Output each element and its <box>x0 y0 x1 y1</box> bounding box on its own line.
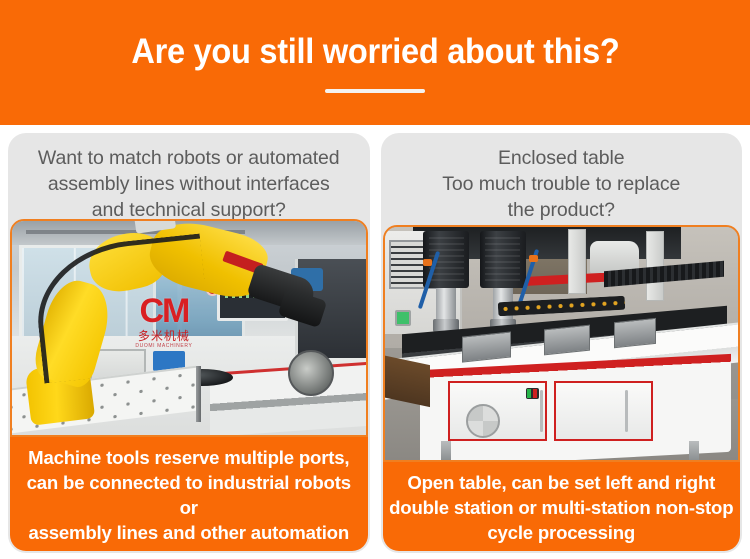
cnc-drilling-machine-photo <box>385 227 739 460</box>
panel-open-table: Enclosed table Too much trouble to repla… <box>381 133 743 553</box>
panel-row: Want to match robots or automated assemb… <box>0 125 750 559</box>
orange-fitting-2 <box>529 255 538 262</box>
workpiece-clamp-3 <box>614 318 656 348</box>
orange-fitting-1 <box>423 259 432 266</box>
photo-frame-left: CM 多米机械 DUOMI MACHINERY <box>10 219 368 437</box>
promo-banner-page: Are you still worried about this? Want t… <box>0 0 750 559</box>
title-underline-rule <box>325 89 425 93</box>
cabinet-door-2 <box>554 381 653 442</box>
machine-leveling-foot-2 <box>689 441 699 460</box>
cabinet-handle-1 <box>540 390 543 432</box>
panel-caption-right: Open table, can be set left and right do… <box>383 462 741 551</box>
power-switch-panel <box>526 388 539 399</box>
spindle-post-left <box>568 229 586 294</box>
machine-leveling-foot-1 <box>441 441 451 460</box>
photo-frame-right <box>383 225 741 462</box>
drill-head-1 <box>423 231 469 341</box>
robot-cable-harness <box>31 234 214 384</box>
drill-spindle <box>436 288 456 321</box>
panel-caption-left: Machine tools reserve multiple ports, ca… <box>10 437 368 551</box>
page-title: Are you still worried about this? <box>131 32 619 72</box>
panel-robot-integration: Want to match robots or automated assemb… <box>8 133 370 553</box>
ventilation-fan-icon <box>466 404 500 438</box>
workpiece-clamp-2 <box>544 325 590 355</box>
panel-heading-right: Enclosed table Too much trouble to repla… <box>381 133 743 225</box>
industrial-robot-arm-photo: CM 多米机械 DUOMI MACHINERY <box>12 221 366 435</box>
banner-header: Are you still worried about this? <box>0 0 750 125</box>
robot-gripper <box>277 288 326 328</box>
workpiece-clamp-1 <box>462 331 511 362</box>
panel-heading-left: Want to match robots or automated assemb… <box>8 133 370 219</box>
drill-motor <box>480 231 526 288</box>
cabinet-handle-2 <box>625 390 628 432</box>
robot-arm <box>19 221 323 431</box>
